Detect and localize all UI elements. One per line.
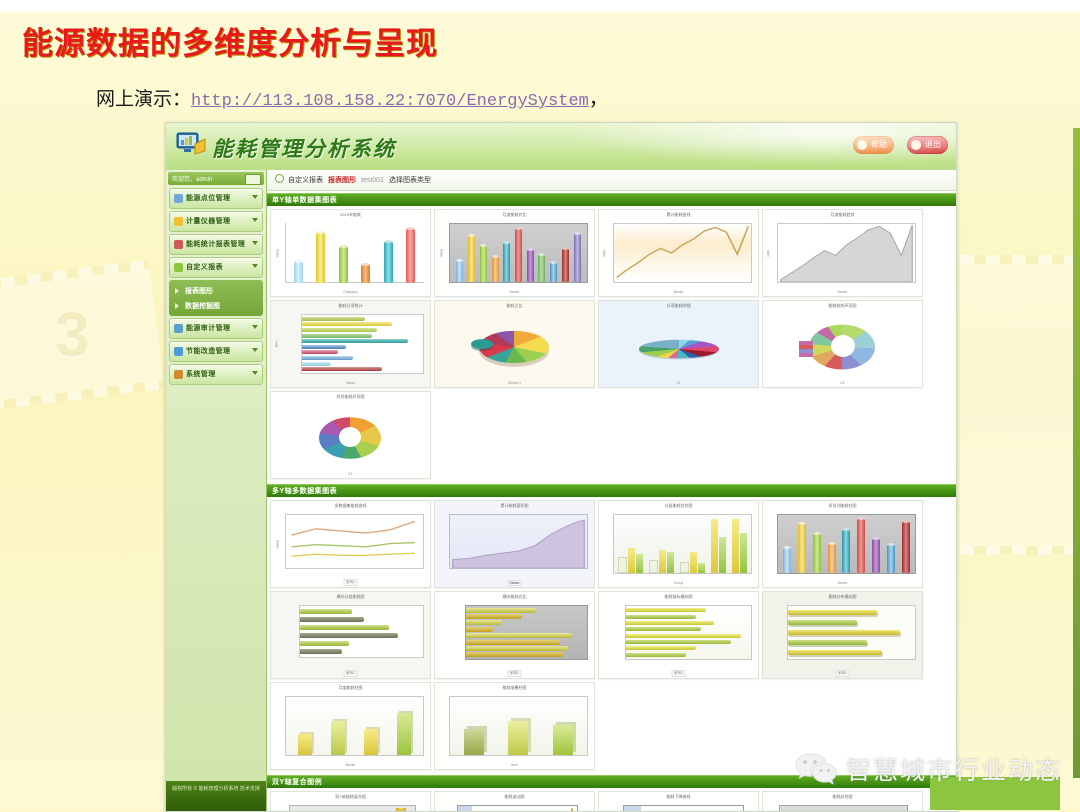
breadcrumb: 自定义报表报表图形test001选择图表类型 bbox=[267, 170, 956, 191]
section-header-multi-axis: 多Y轴多数据集图表 bbox=[267, 484, 956, 497]
application-screenshot[interactable]: 能耗管理分析系统 帮助 退出 欢迎您，admin 能源点位管理 计量仪器管理 bbox=[165, 122, 957, 812]
chart-title: 月度能耗对比 bbox=[435, 212, 594, 217]
chart-title: 综合能耗环形图 bbox=[271, 394, 430, 399]
sidebar-subitem-chart-report[interactable]: 报表图形 bbox=[169, 283, 263, 298]
chart-thumbnail[interactable]: 能耗分布横向图 系列1 bbox=[762, 591, 923, 679]
user-bar: 欢迎您，admin bbox=[168, 172, 264, 185]
chart-title: 能耗下降曲线 bbox=[599, 794, 758, 799]
chart-title: 能耗分布横向图 bbox=[763, 594, 922, 599]
chart-legend: 系列1 bbox=[507, 670, 522, 677]
demo-link-line: 网上演示：http://113.108.158.22:7070/EnergySy… bbox=[96, 84, 608, 111]
chart-thumbnail[interactable]: 月度能耗趋势 kWh Month bbox=[762, 209, 923, 297]
chart-title: 能耗分项统计 bbox=[271, 303, 430, 308]
sidebar-item-system[interactable]: 系统管理 bbox=[169, 364, 263, 385]
chart-legend-note: E1 bbox=[271, 472, 430, 476]
sidebar-item-custom-report[interactable]: 自定义报表 bbox=[169, 257, 263, 278]
demo-trailing-comma: ， bbox=[589, 89, 608, 110]
chart-title: 能耗指标横向图 bbox=[599, 594, 758, 599]
chart-ylabel: Value bbox=[275, 540, 279, 549]
chart-xlabel: Period bbox=[435, 581, 594, 585]
sidebar-item-label: 能耗统计报表管理 bbox=[186, 239, 245, 249]
sidebar-item-label: 能源点位管理 bbox=[186, 193, 230, 203]
slide-number: 3 bbox=[55, 300, 89, 371]
chart-title: 多系列能耗柱图 bbox=[763, 503, 922, 508]
chevron-right-icon bbox=[175, 303, 179, 309]
right-edge-accent-bar bbox=[1073, 128, 1080, 778]
sidebar-item-energy-points[interactable]: 能源点位管理 bbox=[169, 188, 263, 209]
chart-legend-note: S1 bbox=[599, 381, 758, 385]
app-body: 欢迎您，admin 能源点位管理 计量仪器管理 能耗统计报表管理 自定义报表 bbox=[166, 170, 956, 811]
chart-xlabel: Month bbox=[763, 581, 922, 585]
chart-title: 分项能耗明细 bbox=[599, 303, 758, 308]
sidebar-subitem-label: 报表图形 bbox=[185, 286, 213, 296]
chart-title: 能耗波动图 bbox=[435, 794, 594, 799]
sidebar-submenu: 报表图形 数据挖掘图 bbox=[169, 280, 263, 316]
chart-thumbnail[interactable]: 月度能耗柱图 Month bbox=[270, 682, 431, 770]
chart-xlabel: Item bbox=[435, 763, 594, 767]
chart-ylabel: kWh bbox=[767, 250, 771, 257]
chart-thumbnail[interactable]: 能耗综合图 Composite bbox=[762, 791, 923, 811]
breadcrumb-item-1[interactable]: 报表图形 bbox=[328, 177, 356, 184]
chart-xlabel: Month bbox=[763, 290, 922, 294]
chart-thumbnail[interactable]: 能耗占比 Series 1 bbox=[434, 300, 595, 388]
sidebar-item-label: 系统管理 bbox=[186, 369, 216, 379]
chart-thumbnail[interactable]: 横向分组能耗图 系列1 bbox=[270, 591, 431, 679]
sidebar-item-reports[interactable]: 能耗统计报表管理 bbox=[169, 234, 263, 255]
chart-thumbnail[interactable]: 能耗堆叠柱图 Item bbox=[434, 682, 595, 770]
chart-title: 累计能耗曲线 bbox=[599, 212, 758, 217]
chart-thumbnail[interactable]: 横向能耗对比 系列1 bbox=[434, 591, 595, 679]
chart-xlabel: Month bbox=[599, 290, 758, 294]
demo-url-link[interactable]: http://113.108.158.22:7070/EnergySystem bbox=[191, 92, 589, 111]
meter-icon bbox=[174, 217, 183, 226]
breadcrumb-item-0[interactable]: 自定义报表 bbox=[288, 177, 323, 184]
chart-title: 多数据集能耗曲线 bbox=[271, 503, 430, 508]
custom-report-icon bbox=[174, 263, 183, 272]
chart-title: 月度能耗柱图 bbox=[271, 685, 430, 690]
chart-title: 能耗结构环形图 bbox=[763, 303, 922, 308]
sidebar-item-label: 计量仪器管理 bbox=[186, 216, 230, 226]
retrofit-icon bbox=[174, 347, 183, 356]
chart-legend: 系列1 bbox=[343, 579, 358, 586]
chevron-down-icon bbox=[252, 195, 258, 199]
chart-legend: 系列1 bbox=[835, 670, 850, 677]
chart-thumbnail[interactable]: 分项能耗明细 S1 bbox=[598, 300, 759, 388]
content-area: 自定义报表报表图形test001选择图表类型 单Y轴单数据集图表 2015年能耗 bbox=[267, 170, 956, 811]
sidebar-item-label: 自定义报表 bbox=[186, 262, 223, 272]
chart-title: 月度能耗趋势 bbox=[763, 212, 922, 217]
sidebar-subitem-data-mining[interactable]: 数据挖掘图 bbox=[169, 298, 263, 313]
sidebar-item-meters[interactable]: 计量仪器管理 bbox=[169, 211, 263, 232]
chart-xlabel: Month bbox=[435, 290, 594, 294]
chart-thumbnail[interactable]: 能耗波动图 Daily Energy bbox=[434, 791, 595, 811]
chart-title: 横向分组能耗图 bbox=[271, 594, 430, 599]
user-greeting: 欢迎您，admin bbox=[172, 174, 212, 183]
chart-title: 累计能耗面积图 bbox=[435, 503, 594, 508]
sidebar-item-label: 能源审计管理 bbox=[186, 323, 230, 333]
chart-legend-note: Series 1 bbox=[435, 381, 594, 385]
section-label: 多Y轴多数据集图表 bbox=[272, 486, 337, 496]
chart-legend: 系列1 bbox=[671, 670, 686, 677]
chart-thumbnail[interactable]: 2015年能耗 Value Category bbox=[270, 209, 431, 297]
chart-legend: 系列1 bbox=[343, 670, 358, 677]
help-button[interactable]: 帮助 bbox=[853, 136, 894, 154]
page-title: 能源数据的多维度分析与呈现 bbox=[22, 18, 438, 63]
exit-icon bbox=[911, 140, 921, 150]
chevron-down-icon bbox=[252, 371, 258, 375]
chart-xlabel: Group bbox=[599, 581, 758, 585]
chart-grid-section-3: 双Y轴能耗复合图 kWh bbox=[267, 788, 956, 811]
chart-ylabel: kWh bbox=[603, 250, 607, 257]
chart-ylabel: Item bbox=[274, 341, 278, 348]
exit-button-label: 退出 bbox=[925, 140, 941, 149]
chart-thumbnail[interactable]: 能耗下降曲线 Energy Decline bbox=[598, 791, 759, 811]
breadcrumb-item-2: test001 bbox=[361, 177, 384, 184]
chart-thumbnail[interactable]: 能耗指标横向图 系列1 bbox=[598, 591, 759, 679]
app-title: 能耗管理分析系统 bbox=[212, 133, 396, 163]
chart-thumbnail[interactable]: 综合能耗环形图 E1 bbox=[270, 391, 431, 479]
chart-title: 2015年能耗 bbox=[271, 212, 430, 217]
sidebar-item-retrofit[interactable]: 节能改造管理 bbox=[169, 341, 263, 362]
sidebar-item-audit[interactable]: 能源审计管理 bbox=[169, 318, 263, 339]
help-icon bbox=[857, 140, 867, 150]
chart-xlabel: Month bbox=[271, 763, 430, 767]
help-button-label: 帮助 bbox=[871, 140, 887, 149]
chart-xlabel: Category bbox=[271, 290, 430, 294]
chart-thumbnail[interactable]: 多数据集能耗曲线 系列1 Value bbox=[270, 500, 431, 588]
report-icon bbox=[174, 240, 183, 249]
chart-grid-section-2: 多数据集能耗曲线 系列1 Value 累计能耗面积图 bbox=[267, 497, 956, 773]
sidebar-subitem-label: 数据挖掘图 bbox=[185, 301, 220, 311]
chevron-right-icon bbox=[175, 288, 179, 294]
chart-legend-note: D1 bbox=[763, 381, 922, 385]
audit-icon bbox=[174, 324, 183, 333]
chart-thumbnail[interactable]: 双Y轴能耗复合图 kWh bbox=[270, 791, 431, 811]
chevron-down-icon bbox=[252, 348, 258, 352]
chart-thumbnail[interactable]: 能耗结构环形图 D1 bbox=[762, 300, 923, 388]
chart-title: 能耗占比 bbox=[435, 303, 594, 308]
chart-xlabel: Value bbox=[271, 381, 430, 385]
exit-button[interactable]: 退出 bbox=[907, 136, 948, 154]
chart-title: 能耗综合图 bbox=[763, 794, 922, 799]
chart-thumbnail[interactable]: 月度能耗对比 bbox=[434, 209, 595, 297]
chart-type-selector[interactable]: 选择图表类型 bbox=[389, 177, 431, 184]
chart-thumbnail[interactable]: 能耗分项统计 bbox=[270, 300, 431, 388]
home-icon[interactable] bbox=[275, 174, 284, 183]
logout-button[interactable] bbox=[245, 174, 261, 185]
chart-title: 横向能耗对比 bbox=[435, 594, 594, 599]
chart-title: 分组能耗柱状图 bbox=[599, 503, 758, 508]
monitor-chart-icon bbox=[176, 131, 206, 159]
chevron-down-icon bbox=[252, 325, 258, 329]
section-header-single-axis: 单Y轴单数据集图表 bbox=[267, 193, 956, 206]
chart-thumbnail[interactable]: 分组能耗柱状图 bbox=[598, 500, 759, 588]
section-label: 单Y轴单数据集图表 bbox=[272, 195, 337, 205]
chart-title: 能耗堆叠柱图 bbox=[435, 685, 594, 690]
chevron-down-icon bbox=[252, 241, 258, 245]
chart-thumbnail[interactable]: 累计能耗面积图 Value Period bbox=[434, 500, 595, 588]
chevron-down-icon bbox=[252, 218, 258, 222]
green-accent-block bbox=[930, 777, 1060, 810]
sidebar-item-label: 节能改造管理 bbox=[186, 346, 230, 356]
chevron-up-icon bbox=[252, 264, 258, 268]
chart-title: 双Y轴能耗复合图 bbox=[271, 794, 430, 799]
sidebar: 欢迎您，admin 能源点位管理 计量仪器管理 能耗统计报表管理 自定义报表 bbox=[166, 170, 267, 811]
section-header-dual-axis: 双Y轴复合图例 bbox=[267, 775, 956, 788]
settings-icon bbox=[174, 370, 183, 379]
chart-ylabel: Value bbox=[439, 249, 443, 258]
section-label: 双Y轴复合图例 bbox=[272, 777, 322, 787]
chart-grid-section-1: 2015年能耗 Value Category bbox=[267, 206, 956, 482]
node-icon bbox=[174, 194, 183, 203]
chart-thumbnail[interactable]: 累计能耗曲线 kWh Month bbox=[598, 209, 759, 297]
demo-label: 网上演示： bbox=[96, 89, 191, 110]
app-header: 能耗管理分析系统 帮助 退出 bbox=[166, 123, 956, 170]
chart-ylabel: Value bbox=[275, 249, 279, 258]
chart-thumbnail[interactable]: 多系列能耗柱图 bbox=[762, 500, 923, 588]
sidebar-footer: 版权所有 © 能耗管理分析系统 技术支持 bbox=[166, 781, 266, 811]
